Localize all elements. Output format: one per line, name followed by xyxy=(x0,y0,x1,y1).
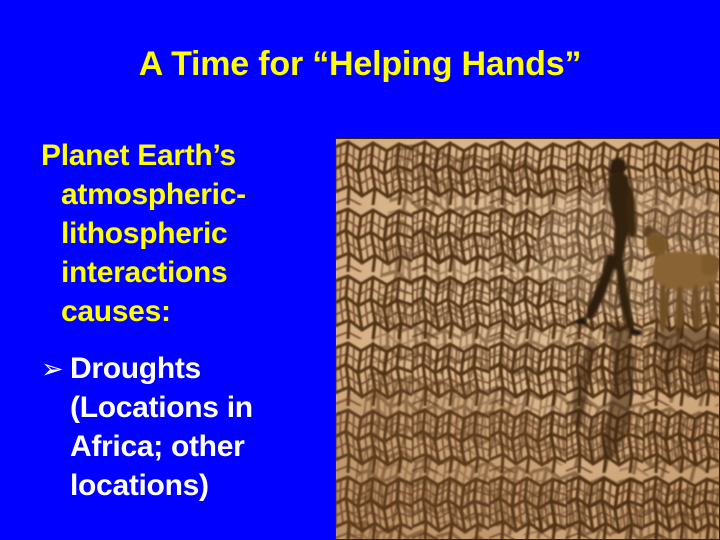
presentation-slide: A Time for “Helping Hands” Planet Earth’… xyxy=(0,0,720,540)
page-title: A Time for “Helping Hands” xyxy=(0,44,720,84)
cracked-earth-illustration xyxy=(335,138,720,540)
arrow-bullet-icon: ➢ xyxy=(41,350,67,389)
bullet-list: Planet Earth’s atmospheric-lithospheric … xyxy=(41,136,331,505)
bullet-item-causes-label: Planet Earth’s atmospheric-lithospheric … xyxy=(61,136,331,331)
bullet-item-droughts-label: Droughts (Locations in Africa; other loc… xyxy=(70,349,331,505)
bullet-item-causes: Planet Earth’s atmospheric-lithospheric … xyxy=(41,136,331,331)
bullet-item-droughts: ➢ Droughts (Locations in Africa; other l… xyxy=(41,349,331,505)
cracked-dry-earth-photo xyxy=(335,138,720,540)
